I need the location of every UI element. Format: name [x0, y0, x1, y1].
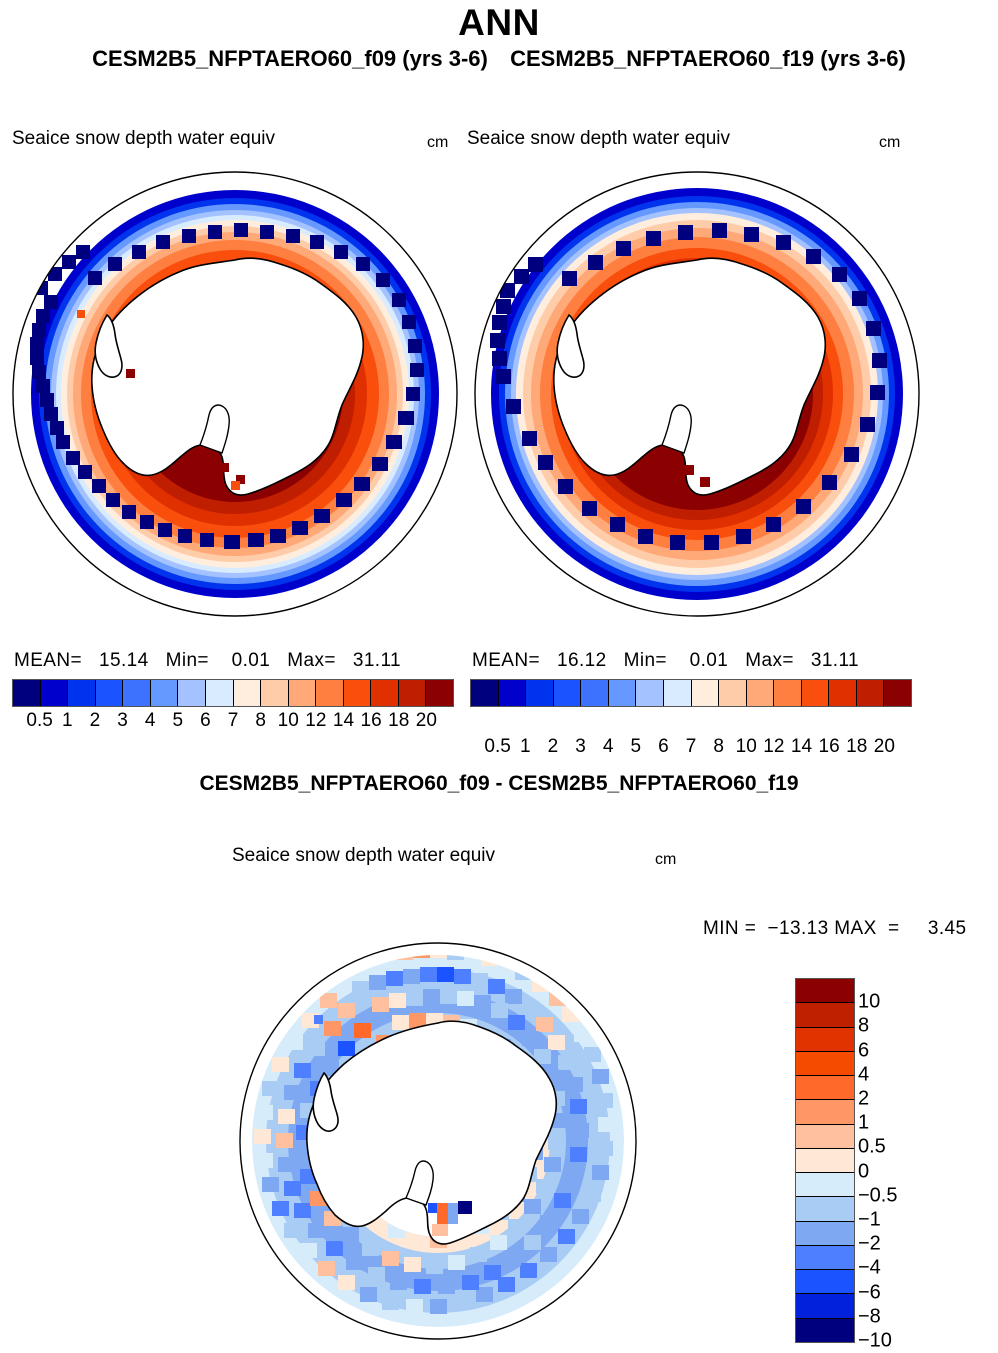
colorbar-tick-label: −1 [858, 1209, 968, 1232]
colorbar-tick-label: 4 [145, 710, 156, 732]
colorbar-tick-label: 2 [548, 736, 559, 758]
colorbar-swatch [829, 680, 857, 706]
right-variable-label: Seaice snow depth water equiv [467, 128, 730, 150]
colorbar-swatch [796, 1125, 854, 1149]
map-right-f19 [466, 163, 928, 625]
colorbar-swatch [13, 680, 41, 706]
colorbar-swatch [526, 680, 554, 706]
colorbar-swatch [796, 1197, 854, 1221]
colorbar-right-ticks: 0.512345678101214161820 [470, 736, 910, 762]
colorbar-swatch [371, 680, 399, 706]
colorbar-swatch [636, 680, 664, 706]
left-stats-line: MEAN= 15.14 Min= 0.01 Max= 31.11 [14, 650, 401, 672]
colorbar-difference [795, 978, 855, 1343]
colorbar-swatch [796, 1100, 854, 1124]
colorbar-swatch [316, 680, 344, 706]
colorbar-tick-label: 10 [736, 736, 757, 758]
colorbar-swatch [796, 1246, 854, 1270]
colorbar-swatch [206, 680, 234, 706]
colorbar-swatch [664, 680, 692, 706]
diff-units-label: cm [655, 851, 676, 869]
colorbar-swatch [796, 1052, 854, 1076]
colorbar-swatch [796, 1294, 854, 1318]
colorbar-swatch [471, 680, 499, 706]
colorbar-tick-label: −6 [858, 1281, 968, 1304]
colorbar-tick-label: 16 [361, 710, 382, 732]
colorbar-swatch [554, 680, 582, 706]
colorbar-swatch [609, 680, 637, 706]
colorbar-swatch [426, 680, 453, 706]
right-units-label: cm [879, 134, 900, 152]
colorbar-tick-label: 4 [858, 1063, 968, 1086]
colorbar-tick-label: 0.5 [26, 710, 52, 732]
diff-variable-label: Seaice snow depth water equiv [232, 845, 495, 867]
panel-title-right: CESM2B5_NFPTAERO60_f19 (yrs 3-6) [510, 46, 906, 72]
right-stats-line: MEAN= 16.12 Min= 0.01 Max= 31.11 [472, 650, 859, 672]
colorbar-tick-label: −4 [858, 1257, 968, 1280]
page-title: ANN [0, 2, 998, 44]
colorbar-tick-label: 12 [305, 710, 326, 732]
colorbar-swatch [719, 680, 747, 706]
colorbar-tick-label: 0.5 [484, 736, 510, 758]
colorbar-swatch [499, 680, 527, 706]
colorbar-tick-label: −10 [858, 1330, 968, 1353]
colorbar-difference-ticks: 10864210.50−0.5−1−2−4−6−8−10 [858, 978, 978, 1341]
colorbar-swatch [178, 680, 206, 706]
colorbar-swatch [68, 680, 96, 706]
colorbar-swatch [344, 680, 372, 706]
colorbar-tick-label: 7 [686, 736, 697, 758]
colorbar-tick-label: 6 [858, 1039, 968, 1062]
colorbar-tick-label: 6 [200, 710, 211, 732]
colorbar-tick-label: 0.5 [858, 1136, 968, 1159]
colorbar-swatch [796, 1222, 854, 1246]
colorbar-swatch [796, 1076, 854, 1100]
diff-stats-line: MIN = −13.13 MAX = 3.45 [703, 918, 966, 940]
colorbar-swatch [261, 680, 289, 706]
colorbar-swatch [692, 680, 720, 706]
colorbar-tick-label: 14 [791, 736, 812, 758]
colorbar-swatch [802, 680, 830, 706]
colorbar-swatch [796, 1270, 854, 1294]
colorbar-swatch [581, 680, 609, 706]
colorbar-tick-label: 4 [603, 736, 614, 758]
colorbar-left-ticks: 0.512345678101214161820 [12, 710, 452, 736]
map-difference [232, 935, 644, 1347]
colorbar-tick-label: 1 [520, 736, 531, 758]
colorbar-tick-label: 8 [858, 1015, 968, 1038]
colorbar-swatch [774, 680, 802, 706]
colorbar-tick-label: 10 [278, 710, 299, 732]
colorbar-tick-label: −0.5 [858, 1184, 968, 1207]
colorbar-swatch [796, 1319, 854, 1342]
colorbar-swatch [796, 979, 854, 1003]
colorbar-right [470, 679, 912, 707]
colorbar-tick-label: 7 [228, 710, 239, 732]
colorbar-tick-label: 18 [388, 710, 409, 732]
colorbar-swatch [857, 680, 885, 706]
colorbar-swatch [399, 680, 427, 706]
colorbar-tick-label: 8 [255, 710, 266, 732]
colorbar-tick-label: 18 [846, 736, 867, 758]
colorbar-swatch [96, 680, 124, 706]
colorbar-tick-label: 20 [874, 736, 895, 758]
left-units-label: cm [427, 134, 448, 152]
colorbar-swatch [796, 1003, 854, 1027]
colorbar-tick-label: 2 [858, 1088, 968, 1111]
colorbar-tick-label: 20 [416, 710, 437, 732]
colorbar-left [12, 679, 454, 707]
colorbar-swatch [884, 680, 911, 706]
panel-titles-row: CESM2B5_NFPTAERO60_f09 (yrs 3-6) CESM2B5… [0, 46, 998, 72]
colorbar-tick-label: 2 [90, 710, 101, 732]
map-left-f09 [4, 163, 466, 625]
colorbar-tick-label: 5 [172, 710, 183, 732]
colorbar-swatch [234, 680, 262, 706]
colorbar-swatch [796, 1028, 854, 1052]
colorbar-tick-label: 6 [658, 736, 669, 758]
colorbar-tick-label: −2 [858, 1233, 968, 1256]
colorbar-tick-label: 10 [858, 991, 968, 1014]
colorbar-swatch [151, 680, 179, 706]
colorbar-swatch [747, 680, 775, 706]
colorbar-swatch [289, 680, 317, 706]
left-variable-label: Seaice snow depth water equiv [12, 128, 275, 150]
colorbar-tick-label: 14 [333, 710, 354, 732]
colorbar-tick-label: 16 [819, 736, 840, 758]
colorbar-tick-label: 8 [713, 736, 724, 758]
colorbar-tick-label: −8 [858, 1305, 968, 1328]
colorbar-tick-label: 3 [117, 710, 128, 732]
panel-title-left: CESM2B5_NFPTAERO60_f09 (yrs 3-6) [92, 46, 488, 72]
colorbar-swatch [123, 680, 151, 706]
colorbar-tick-label: 3 [575, 736, 586, 758]
difference-panel-title: CESM2B5_NFPTAERO60_f09 - CESM2B5_NFPTAER… [0, 772, 998, 796]
colorbar-tick-label: 1 [62, 710, 73, 732]
colorbar-tick-label: 1 [858, 1112, 968, 1135]
colorbar-swatch [41, 680, 69, 706]
colorbar-tick-label: 5 [630, 736, 641, 758]
colorbar-swatch [796, 1173, 854, 1197]
colorbar-tick-label: 12 [763, 736, 784, 758]
colorbar-tick-label: 0 [858, 1160, 968, 1183]
colorbar-swatch [796, 1149, 854, 1173]
